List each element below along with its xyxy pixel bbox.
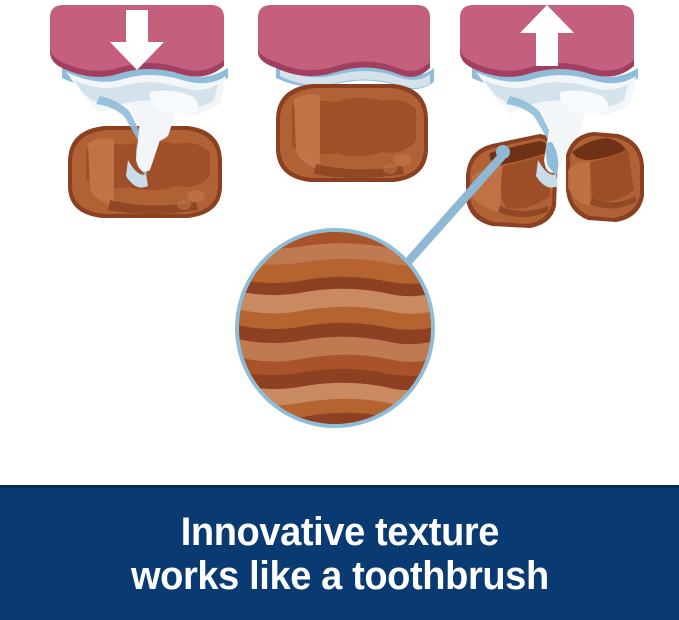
panel-kibble-break bbox=[460, 5, 644, 228]
banner-headline: Innovative textureworks like a toothbrus… bbox=[112, 510, 568, 598]
broken-kibble-right bbox=[566, 132, 644, 222]
gum-block-middle bbox=[258, 5, 430, 77]
banner-line-2: works like a toothbrush bbox=[131, 554, 549, 598]
kibble-whole-middle bbox=[276, 84, 428, 182]
illustration-stage: Innovative textureworks like a toothbrus… bbox=[0, 0, 679, 620]
panel-bite-down bbox=[50, 5, 228, 218]
caption-banner: Innovative textureworks like a toothbrus… bbox=[0, 485, 679, 620]
texture-magnifier bbox=[232, 224, 438, 431]
magnifier-texture-stripes bbox=[232, 224, 438, 431]
banner-line-1: Innovative texture bbox=[180, 510, 498, 554]
panel-kibble-contact bbox=[258, 5, 434, 182]
